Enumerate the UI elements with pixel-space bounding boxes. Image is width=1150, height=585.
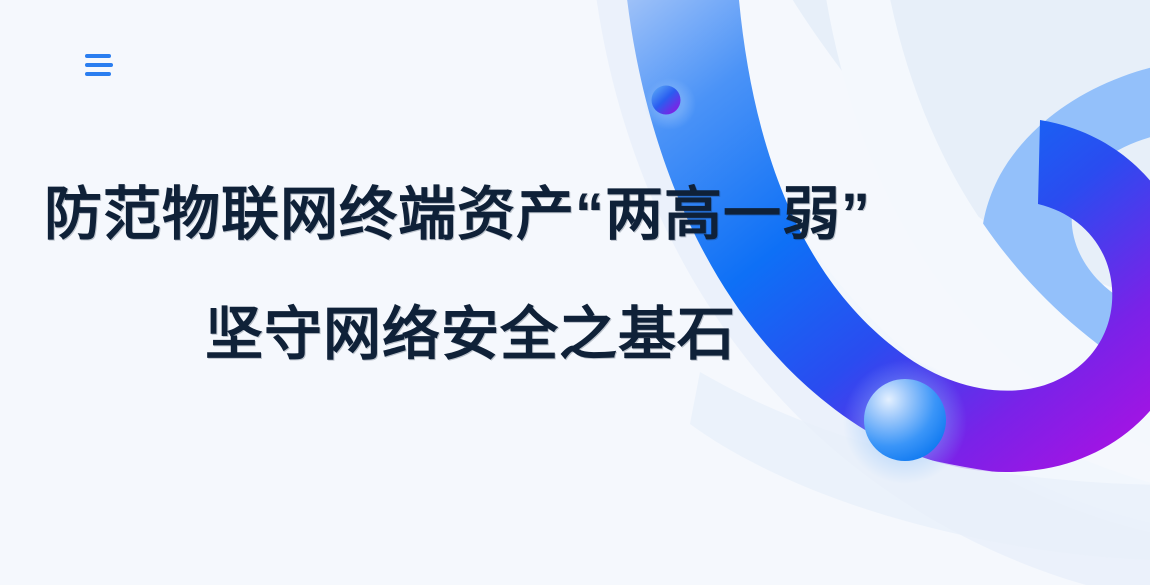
large-sphere-glow (843, 360, 967, 484)
menu-bar-middle (85, 63, 113, 67)
small-sphere (652, 86, 681, 115)
small-sphere-glow (644, 78, 696, 130)
slide-canvas: 防范物联网终端资产“两高一弱” 坚守网络安全之基石 (0, 0, 1150, 585)
title-line-1: 防范物联网终端资产“两高一弱” (0, 186, 880, 244)
pale-lower-band (690, 372, 1150, 560)
light-blue-arc (981, 58, 1150, 430)
title-line-2: 坚守网络安全之基石 (0, 306, 880, 364)
hamburger-menu-icon[interactable] (82, 50, 116, 80)
large-sphere (864, 379, 946, 461)
menu-bar-bottom (85, 72, 111, 76)
page-title: 防范物联网终端资产“两高一弱” 坚守网络安全之基石 (0, 186, 880, 364)
menu-bar-top (85, 54, 111, 58)
